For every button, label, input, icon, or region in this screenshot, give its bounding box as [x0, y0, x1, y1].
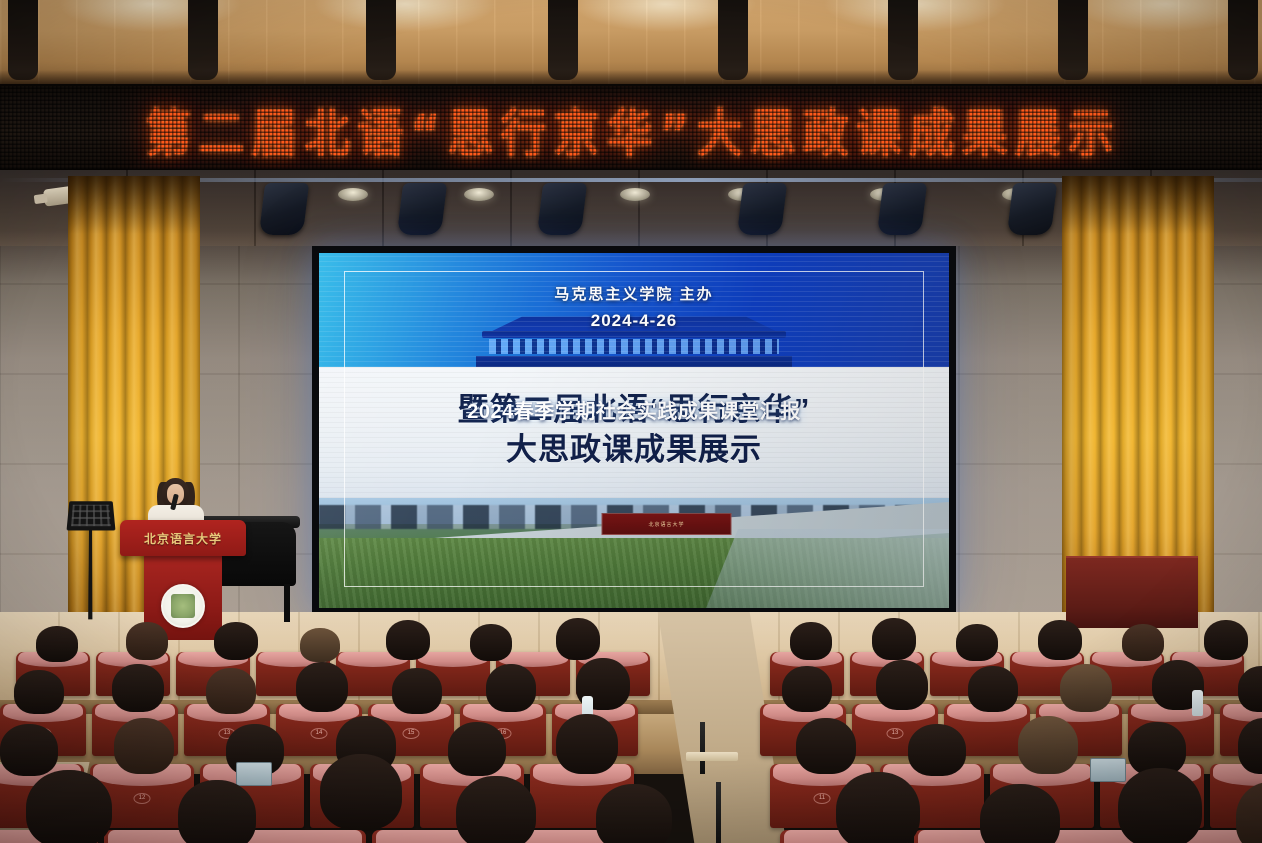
audience-head — [300, 628, 340, 662]
seat-number: 15 — [403, 728, 420, 739]
audience-head — [206, 668, 256, 714]
audience-head — [1118, 768, 1202, 843]
audience-head — [596, 784, 672, 843]
led-banner: 第二届北语“思行京华”大思政课成果展示 — [0, 84, 1262, 172]
ceiling-baffle — [8, 0, 38, 80]
audience-head — [486, 664, 536, 712]
led-banner-text: 第二届北语“思行京华”大思政课成果展示 — [145, 93, 1120, 167]
audience-head — [1060, 664, 1112, 712]
spotlight-icon — [877, 183, 927, 235]
spotlight-icon — [259, 183, 309, 235]
slide-date: 2024-4-26 — [591, 311, 678, 331]
seat[interactable] — [238, 830, 366, 843]
audience-head — [980, 784, 1060, 843]
ceiling-baffle — [366, 0, 396, 80]
seat-number: 13 — [887, 728, 904, 739]
ceiling-baffle — [1228, 0, 1258, 80]
laptop — [236, 762, 272, 786]
can-light-icon — [464, 188, 494, 201]
podium-lectern: 北京语言大学 — [120, 520, 246, 556]
row-rail — [716, 782, 721, 843]
audience-head — [14, 670, 64, 714]
slide-footer-group: 马克思主义学院 主办 2024-4-26 — [319, 253, 949, 608]
audience-head — [876, 660, 928, 710]
audience-head — [448, 722, 506, 776]
can-light-icon — [338, 188, 368, 201]
audience-head — [836, 772, 920, 843]
spotlight-icon — [397, 183, 447, 235]
spotlight-icon — [1007, 183, 1057, 235]
audience-head — [178, 780, 256, 843]
audience-head — [470, 624, 512, 661]
audience-head — [1018, 716, 1078, 774]
audience-head — [126, 622, 168, 660]
ceiling-baffle — [548, 0, 578, 80]
audience-head — [556, 714, 618, 774]
audience-head — [908, 724, 966, 776]
audience-head — [456, 776, 536, 843]
audience-head — [26, 770, 112, 843]
ceiling-baffle — [1058, 0, 1088, 80]
can-light-icon — [620, 188, 650, 201]
projection-screen[interactable]: 2024春季学期社会实践成果课堂汇报 暨第二届北语“思行京华” 大思政课成果展示… — [312, 246, 956, 615]
audience-head — [214, 622, 258, 660]
seat-number: 11 — [814, 793, 831, 804]
audience-head — [36, 626, 78, 662]
audience-head — [112, 664, 164, 712]
ceiling-baffle — [888, 0, 918, 80]
spotlight-icon — [737, 183, 787, 235]
audience-head — [556, 618, 600, 660]
water-bottle — [1192, 690, 1203, 716]
seat-headrest — [242, 830, 362, 843]
audience-head — [872, 618, 916, 660]
audience-seating-area: 11 12 13 14 15 16 13 12 11 — [0, 612, 1262, 843]
audience-head — [956, 624, 998, 661]
audience-head — [386, 620, 430, 660]
audience-head — [796, 718, 856, 774]
led-banner-inner: 第二届北语“思行京华”大思政课成果展示 — [58, 94, 1208, 166]
music-stand-mesh — [71, 505, 111, 526]
ceiling-baffle — [718, 0, 748, 80]
audience-head — [782, 666, 832, 712]
podium-institution-label: 北京语言大学 — [120, 520, 246, 556]
audience-head — [790, 622, 832, 660]
audience-head — [0, 724, 58, 776]
slide-organizer: 马克思主义学院 主办 — [554, 283, 713, 304]
seat-number: 14 — [311, 728, 328, 739]
audience-head — [296, 662, 348, 712]
audience-head — [1122, 624, 1164, 661]
audience-head — [114, 718, 174, 774]
spotlight-icon — [537, 183, 587, 235]
laptop — [1090, 758, 1126, 782]
audience-head — [392, 668, 442, 714]
tablet-arm-desk — [686, 752, 738, 761]
audience-head — [968, 666, 1018, 712]
music-stand-icon — [67, 501, 116, 530]
ceiling-baffle — [188, 0, 218, 80]
audience-head — [1204, 620, 1248, 660]
seat-number: 12 — [134, 793, 151, 804]
auditorium-photo: 第二届北语“思行京华”大思政课成果展示 — [0, 0, 1262, 843]
audience-head — [1038, 620, 1082, 660]
curtain-shadow — [1062, 176, 1214, 234]
row-rail — [700, 722, 705, 774]
slide-canvas: 2024春季学期社会实践成果课堂汇报 暨第二届北语“思行京华” 大思政课成果展示… — [319, 253, 949, 608]
audience-head — [320, 754, 402, 830]
curtain-shadow — [68, 176, 200, 234]
ceiling — [0, 0, 1262, 86]
